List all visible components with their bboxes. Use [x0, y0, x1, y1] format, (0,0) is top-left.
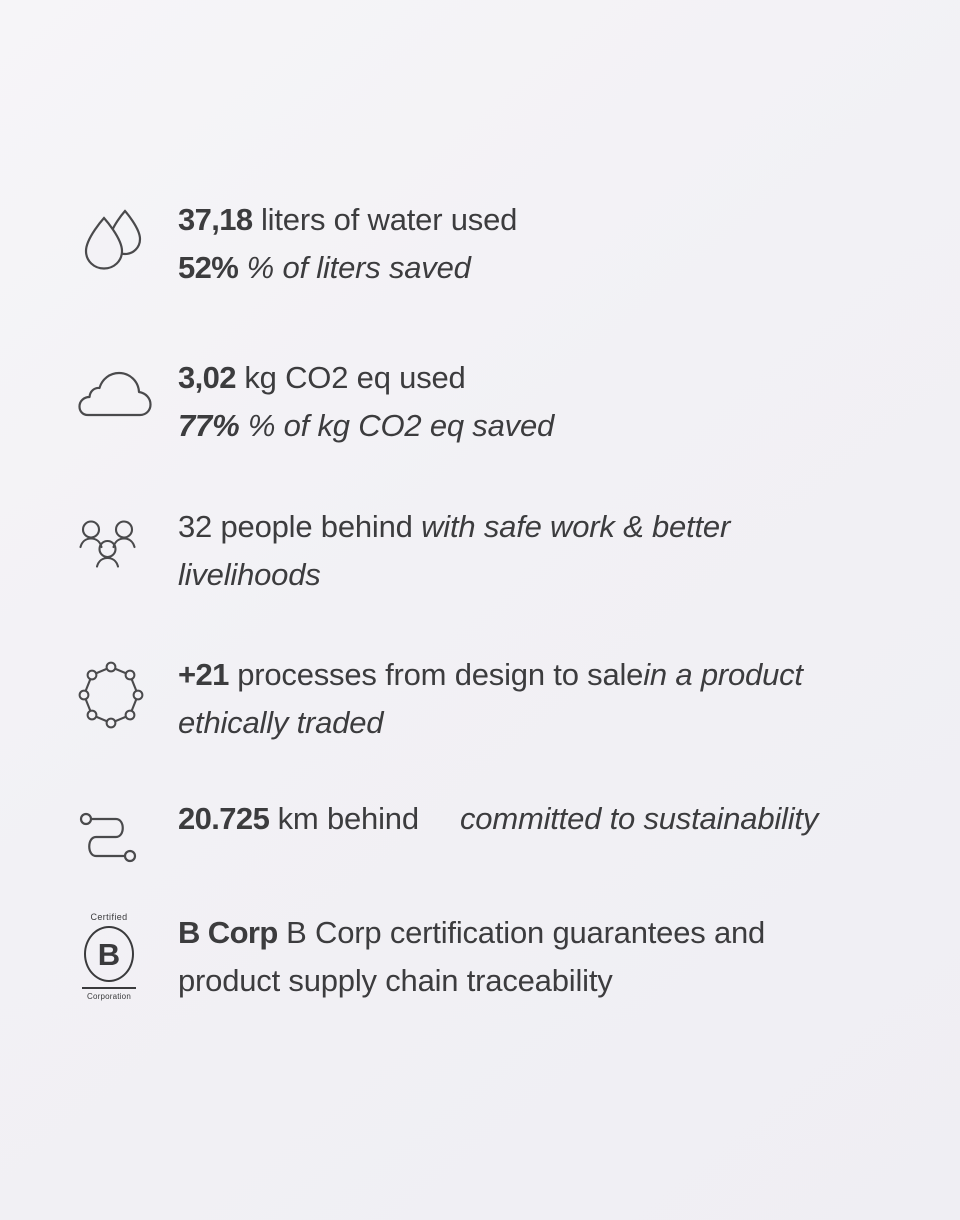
metric-lead: 32 people behind [178, 509, 421, 544]
metric-value: 20.725 [178, 801, 269, 836]
metric-label: km behind [269, 801, 419, 836]
water-drops-icon [78, 196, 178, 276]
metric-text-processes: +21 processes from design to salein a pr… [178, 651, 858, 747]
metric-value: 3,02 [178, 360, 236, 395]
metric-row-co2: 3,02 kg CO2 eq used 77% % of kg CO2 eq s… [78, 354, 900, 450]
metric-label: % of liters saved [238, 250, 470, 285]
metric-label: kg CO2 eq used [236, 360, 466, 395]
bcorp-certified-label: Certified [90, 913, 127, 922]
metric-value: 77% [178, 408, 239, 443]
sustainability-impact-panel: 37,18 liters of water used 52% % of lite… [0, 0, 960, 1220]
metric-row-distance: 20.725 km behind committed to sustainabi… [78, 795, 900, 867]
metric-line-co2-saved: 77% % of kg CO2 eq saved [178, 402, 900, 450]
supply-chain-loop-icon [78, 651, 178, 729]
metric-value: +21 [178, 657, 229, 692]
distance-columns: 20.725 km behind committed to sustainabi… [178, 795, 900, 843]
bcorp-divider [82, 987, 136, 989]
metric-label: liters of water used [253, 202, 518, 237]
distance-note-column: committed to sustainability [460, 795, 900, 843]
metric-line-water-used: 37,18 liters of water used [178, 196, 900, 244]
metric-text-distance: 20.725 km behind committed to sustainabi… [178, 795, 900, 843]
metric-line-water-saved: 52% % of liters saved [178, 244, 900, 292]
metric-value: B Corp [178, 915, 278, 950]
metric-text-people: 32 people behind with safe work & better… [178, 503, 868, 599]
metric-text-water: 37,18 liters of water used 52% % of lite… [178, 196, 900, 292]
bcorp-mark: Certified B Corporation [78, 913, 140, 1001]
metric-value: 52% [178, 250, 238, 285]
bcorp-logo-icon: Certified B Corporation [78, 909, 178, 1001]
metric-label: % of kg CO2 eq saved [239, 408, 554, 443]
metric-row-bcorp: Certified B Corporation B Corp B Corp ce… [78, 909, 900, 1005]
cloud-icon [78, 354, 178, 424]
bcorp-letter: B [84, 926, 134, 982]
metric-label: processes from design to sale [229, 657, 643, 692]
metric-value: 37,18 [178, 202, 253, 237]
metric-row-processes: +21 processes from design to salein a pr… [78, 651, 900, 747]
route-path-icon [78, 795, 178, 867]
metric-row-water: 37,18 liters of water used 52% % of lite… [78, 196, 900, 292]
distance-value-column: 20.725 km behind [178, 795, 460, 843]
people-group-icon [78, 503, 178, 575]
metric-line-co2-used: 3,02 kg CO2 eq used [178, 354, 900, 402]
metric-text-bcorp: B Corp B Corp certification guarantees a… [178, 909, 838, 1005]
metric-text-co2: 3,02 kg CO2 eq used 77% % of kg CO2 eq s… [178, 354, 900, 450]
bcorp-corporation-label: Corporation [87, 993, 131, 1001]
metric-row-people: 32 people behind with safe work & better… [78, 503, 900, 599]
